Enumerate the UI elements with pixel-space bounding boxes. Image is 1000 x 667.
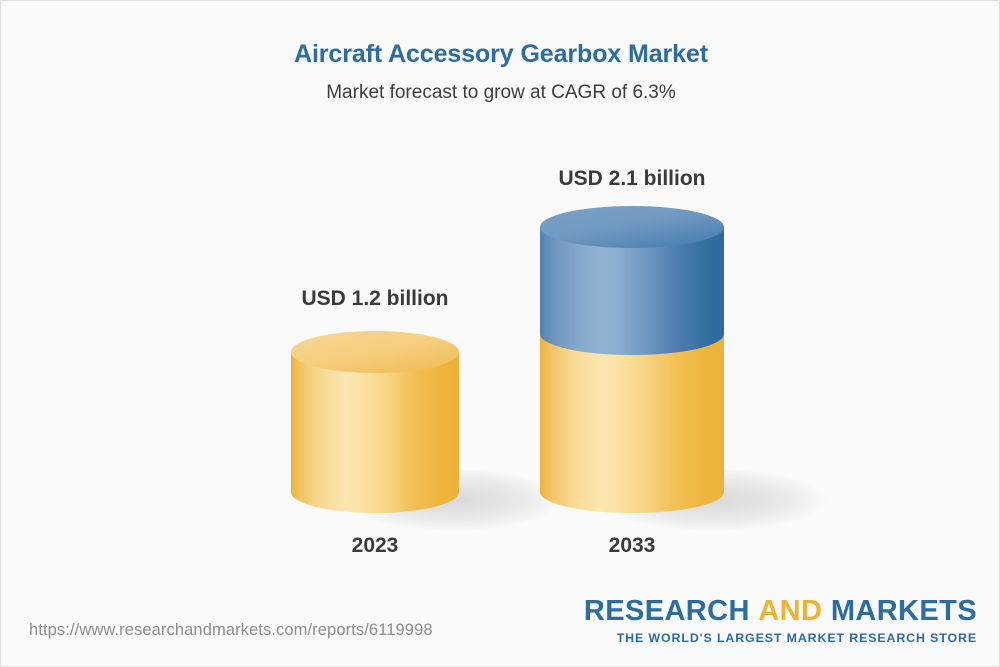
bar-value-label-2033: USD 2.1 billion — [482, 167, 782, 191]
brand-tagline: THE WORLD'S LARGEST MARKET RESEARCH STOR… — [584, 626, 977, 644]
chart-plot-area: USD 1.2 billion — [1, 1, 1000, 667]
bar-cylinder-2033 — [540, 206, 724, 513]
bar-year-label-2023: 2023 — [225, 534, 525, 558]
source-url-link[interactable]: https://www.researchandmarkets.com/repor… — [29, 621, 433, 640]
bar-cylinder-2033-svg — [540, 206, 724, 513]
bar-cylinder-2023 — [291, 331, 459, 513]
brand-word-markets: MARKETS — [831, 595, 977, 627]
bar-cylinder-2023-svg — [291, 331, 459, 513]
brand-name: RESEARCH AND MARKETS — [584, 597, 977, 626]
bar-year-label-2033: 2033 — [482, 534, 782, 558]
brand-word-research: RESEARCH — [584, 595, 750, 627]
bar-value-label-2023: USD 1.2 billion — [225, 287, 525, 311]
market-infographic: Aircraft Accessory Gearbox Market Market… — [0, 0, 1000, 667]
brand-logo: RESEARCH AND MARKETS THE WORLD'S LARGEST… — [584, 597, 977, 644]
brand-word-and: AND — [758, 595, 822, 627]
